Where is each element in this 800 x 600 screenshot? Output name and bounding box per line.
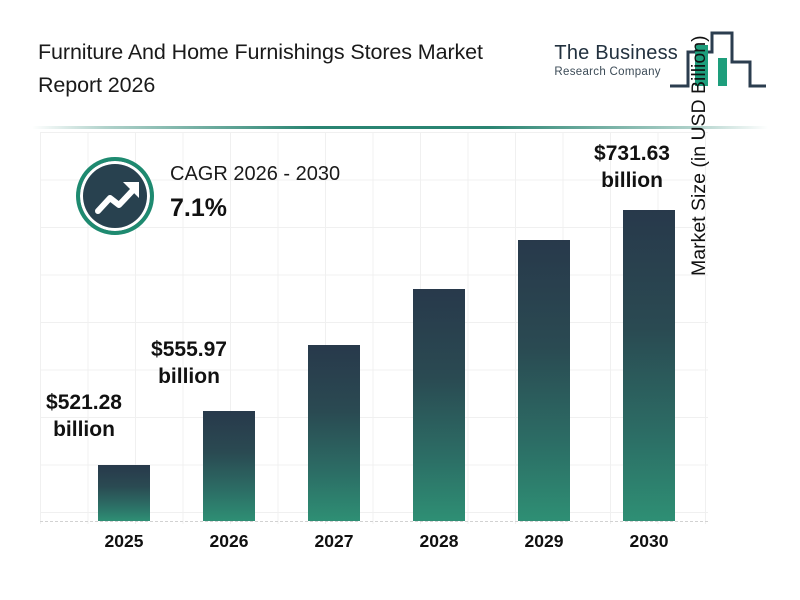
bar-2027[interactable] (308, 345, 360, 521)
header-divider (32, 126, 768, 129)
chart-page: Furniture And Home Furnishings Stores Ma… (0, 0, 800, 600)
bar-2029[interactable] (518, 240, 570, 521)
x-tick-2028: 2028 (413, 531, 465, 552)
cagr-badge-circle (76, 157, 154, 235)
bar-label-2026-unit: billion (147, 363, 231, 390)
x-tick-2025: 2025 (98, 531, 150, 552)
bar-label-2025: $521.28 billion (42, 389, 126, 443)
company-logo: The Business Research Company (550, 28, 770, 98)
bar-label-2026: $555.97 billion (147, 336, 231, 390)
bar-label-2025-value: $521.28 (42, 389, 126, 416)
bar-chart-logo-icon (670, 28, 766, 94)
trending-up-icon (95, 178, 143, 222)
bar-label-2030: $731.63 billion (582, 140, 682, 194)
bar-label-2026-value: $555.97 (147, 336, 231, 363)
bar-label-2025-unit: billion (42, 416, 126, 443)
bar-2026[interactable] (203, 411, 255, 521)
x-tick-2026: 2026 (203, 531, 255, 552)
header: Furniture And Home Furnishings Stores Ma… (0, 0, 800, 118)
cagr-badge: CAGR 2026 - 2030 7.1% (76, 155, 406, 239)
logo-wordmark: The Business Research Company (554, 42, 678, 79)
cagr-range-label: CAGR 2026 - 2030 (170, 159, 406, 189)
y-axis-title: Market Size (in USD Billion) (688, 0, 711, 276)
x-tick-2029: 2029 (518, 531, 570, 552)
bar-2025[interactable] (98, 465, 150, 521)
cagr-value-label: 7.1% (170, 191, 406, 225)
x-tick-2027: 2027 (308, 531, 360, 552)
x-axis: 2025 2026 2027 2028 2029 2030 (40, 531, 708, 561)
bar-2028[interactable] (413, 289, 465, 521)
x-tick-2030: 2030 (623, 531, 675, 552)
bar-label-2030-value: $731.63 (582, 140, 682, 167)
bar-label-2030-unit: billion (582, 167, 682, 194)
bar-2030[interactable] (623, 210, 675, 521)
x-axis-baseline (40, 521, 708, 522)
page-title: Furniture And Home Furnishings Stores Ma… (38, 36, 538, 102)
cagr-text-block: CAGR 2026 - 2030 7.1% (170, 159, 406, 225)
logo-line-1: The Business (554, 42, 678, 64)
logo-line-2: Research Company (554, 65, 678, 79)
